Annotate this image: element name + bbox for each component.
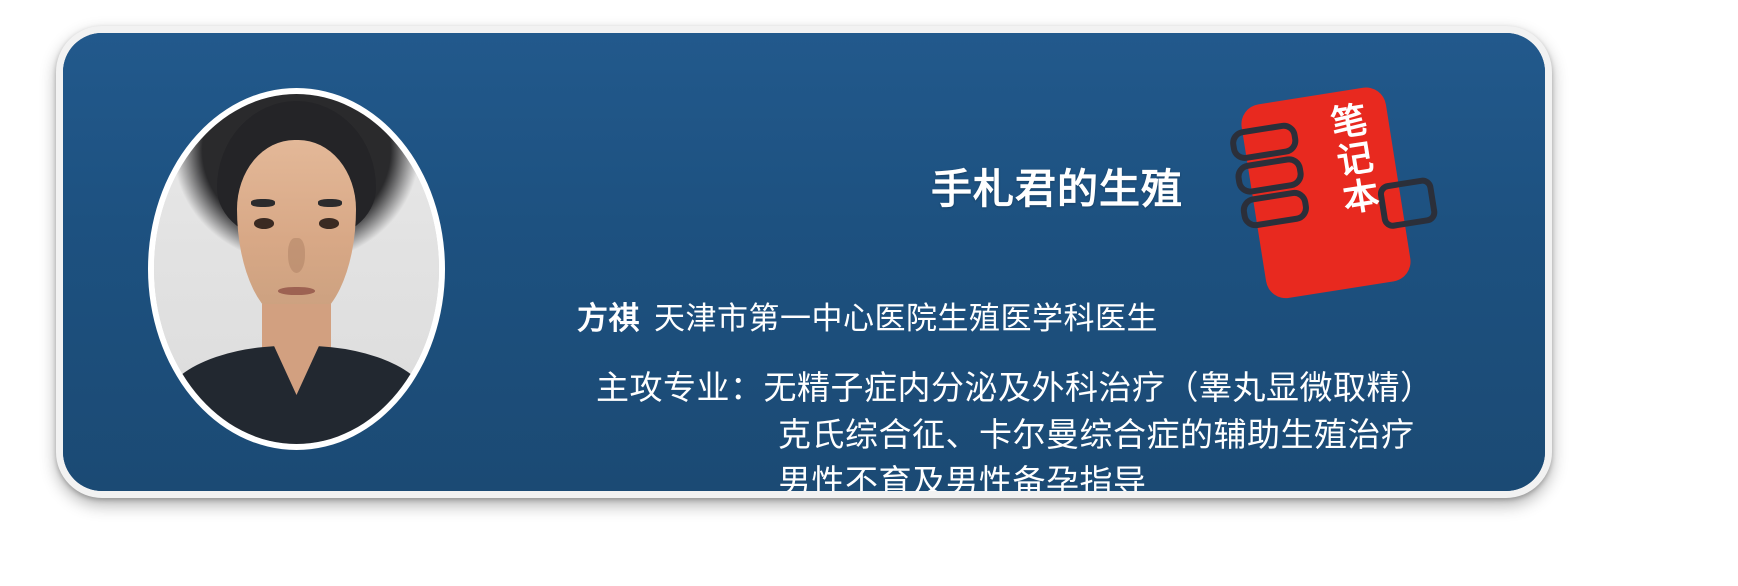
avatar-mouth [278, 287, 315, 295]
specialty-block: 主攻专业：无精子症内分泌及外科治疗（睾丸显微取精） 克氏综合征、卡尔曼综合症的辅… [596, 365, 1434, 498]
page-title: 手札君的生殖 [931, 155, 1183, 215]
doctor-affiliation: 天津市第一中心医院生殖医学科医生 [654, 301, 1158, 336]
avatar-eyebrow-right [318, 199, 342, 207]
avatar-eyebrow-left [251, 199, 275, 207]
notebook-icon: 笔记本 [1227, 83, 1424, 303]
doctor-profile-card: 手札君的生殖 笔记本 方祺天津市第一中心医院生殖医学科医生 主攻专业：无精子症内… [56, 26, 1552, 498]
avatar-eye-left [254, 218, 274, 229]
doctor-name-line: 方祺天津市第一中心医院生殖医学科医生 [577, 293, 1158, 338]
avatar-eye-right [319, 218, 339, 229]
avatar-nose [288, 238, 305, 273]
specialty-line-2: 克氏综合征、卡尔曼综合症的辅助生殖治疗 [596, 412, 1434, 459]
specialty-line-1: 主攻专业：无精子症内分泌及外科治疗（睾丸显微取精） [596, 365, 1434, 412]
specialty-line-3: 男性不育及男性备孕指导 [596, 459, 1434, 498]
doctor-name: 方祺 [577, 301, 640, 336]
notebook-clasp-icon [1376, 176, 1439, 230]
doctor-avatar [148, 88, 445, 450]
